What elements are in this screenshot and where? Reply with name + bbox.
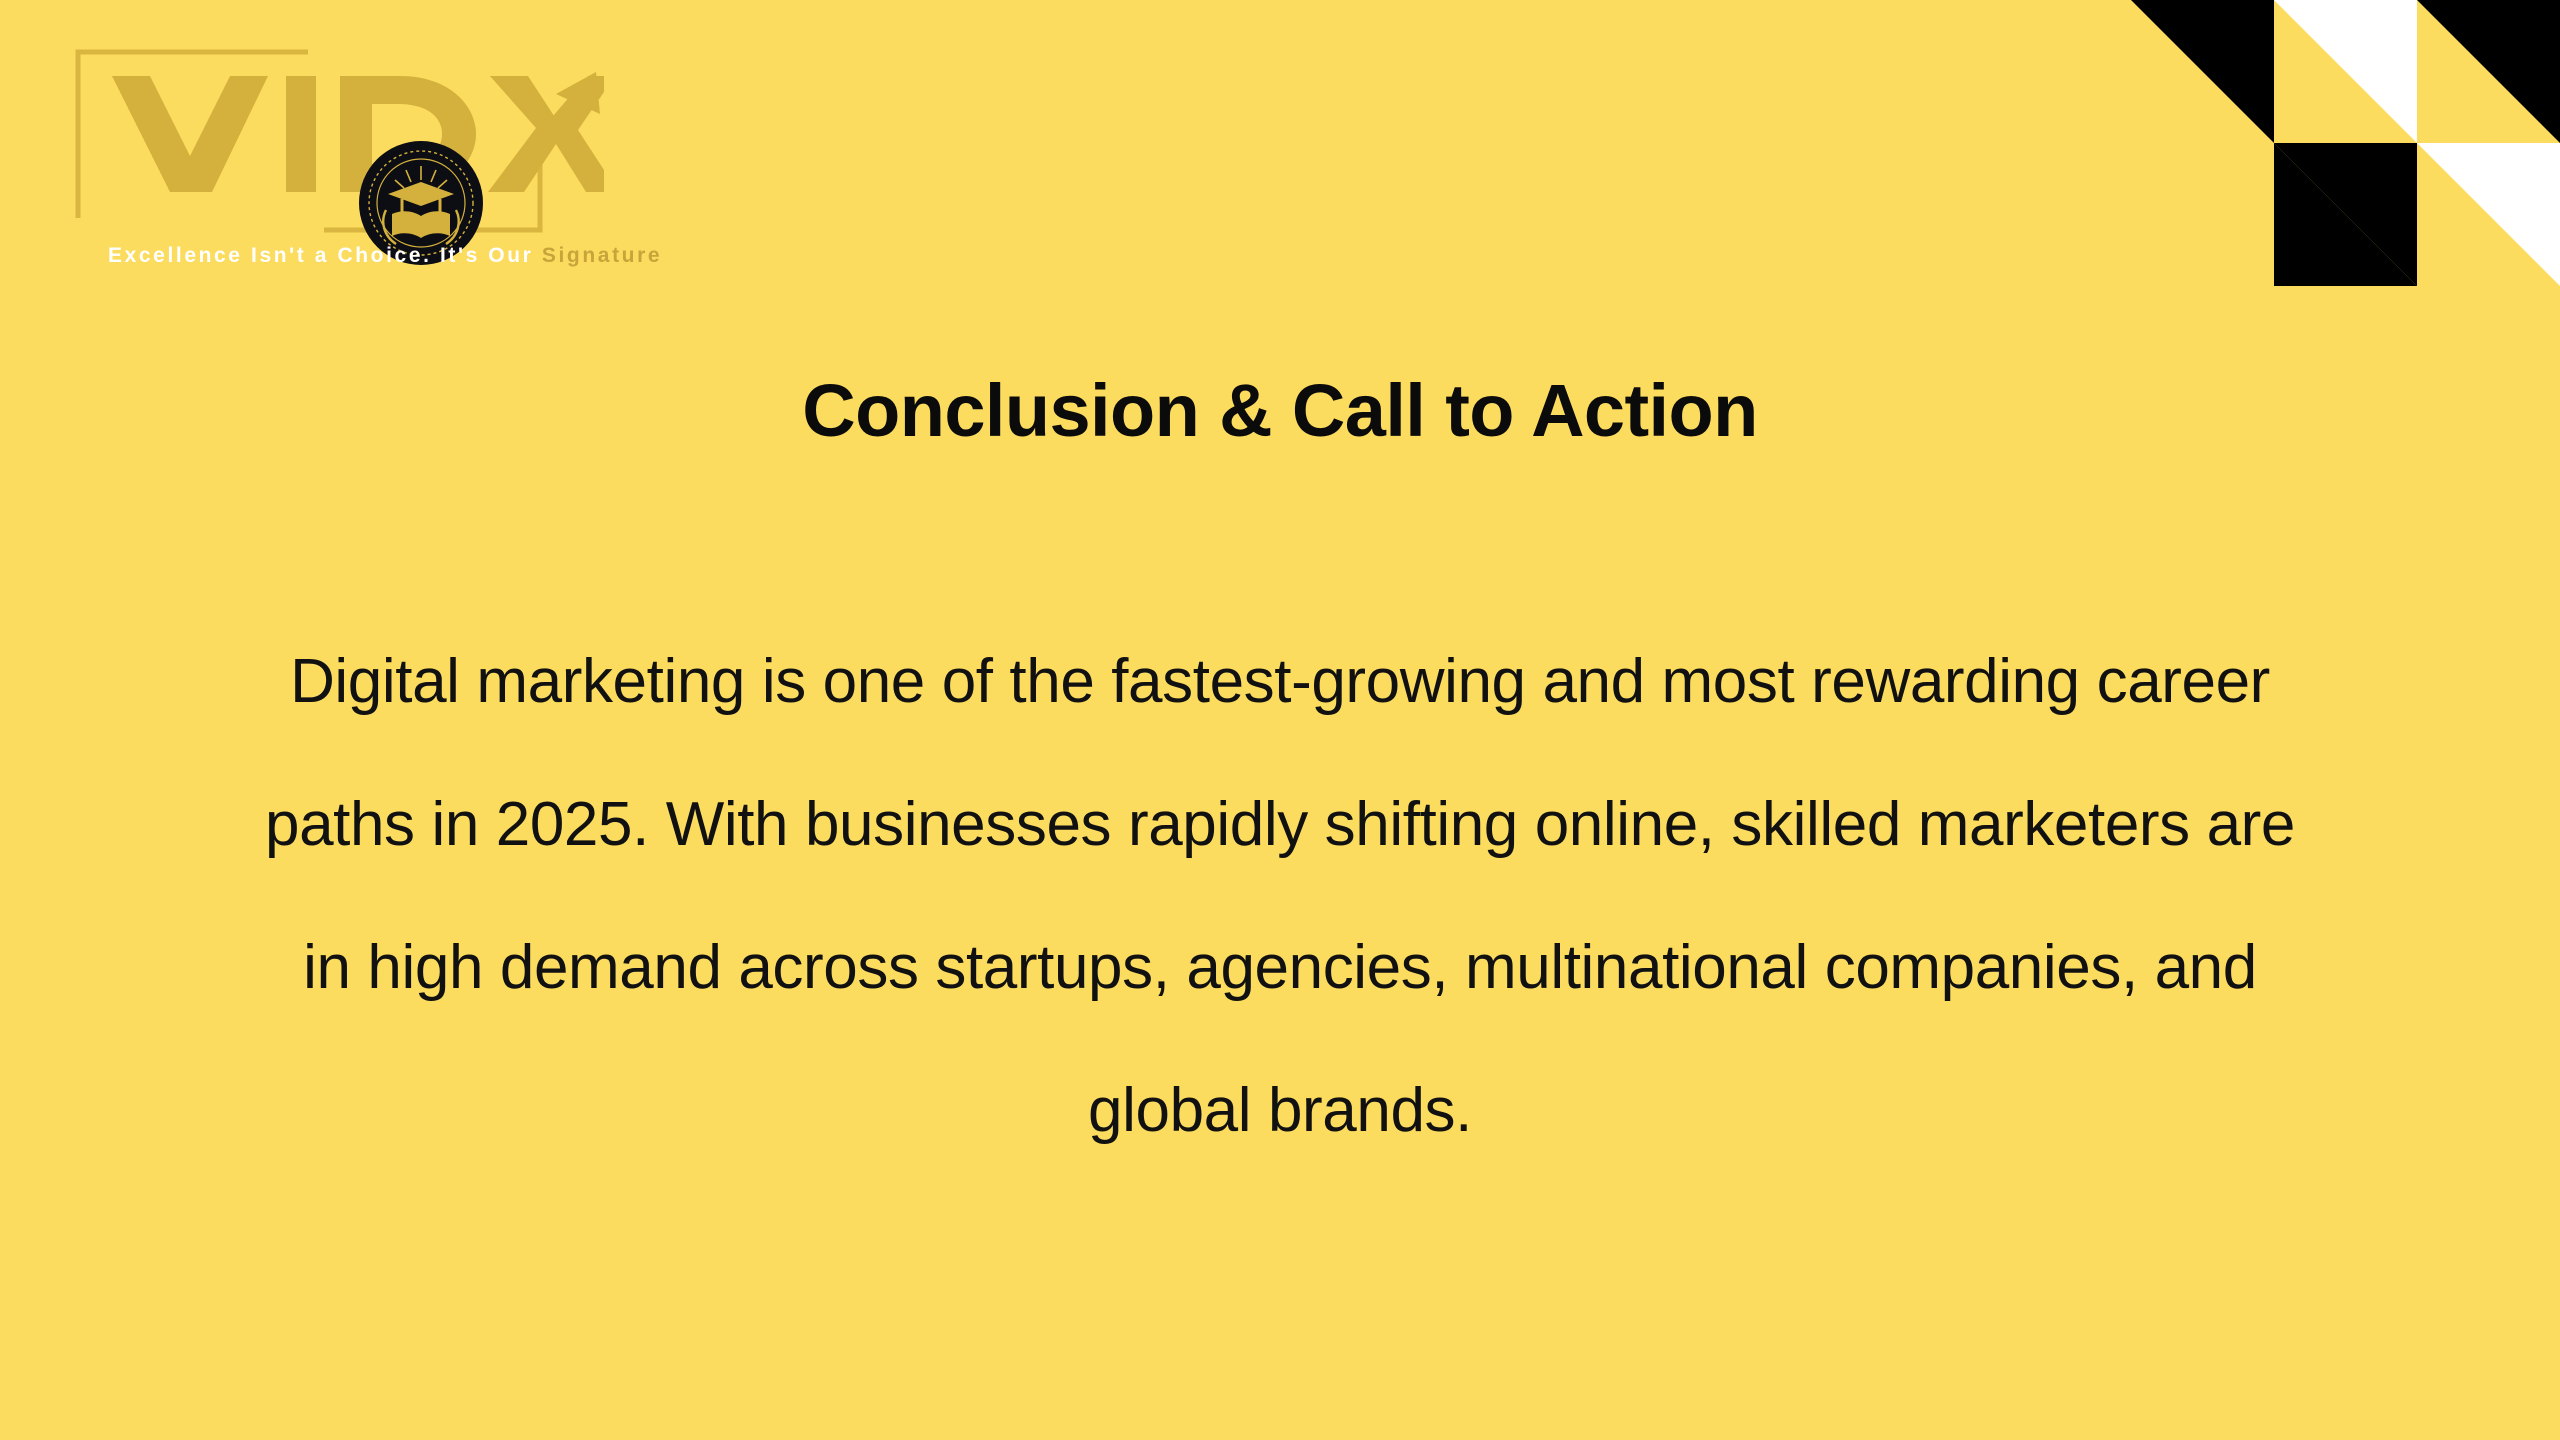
- slide-body-text: Digital marketing is one of the fastest-…: [150, 610, 2410, 1182]
- body-line-1: Digital marketing is one of the fastest-…: [150, 610, 2410, 753]
- body-line-3: in high demand across startups, agencies…: [150, 896, 2410, 1039]
- body-line-4: global brands.: [150, 1039, 2410, 1182]
- slide-canvas: Excellence Isn't a Choice. It's Our Sign…: [0, 0, 2560, 1440]
- slide-title: Conclusion & Call to Action: [0, 368, 2560, 453]
- body-line-2: paths in 2025. With businesses rapidly s…: [150, 753, 2410, 896]
- slide-content: Conclusion & Call to Action Digital mark…: [0, 0, 2560, 1440]
